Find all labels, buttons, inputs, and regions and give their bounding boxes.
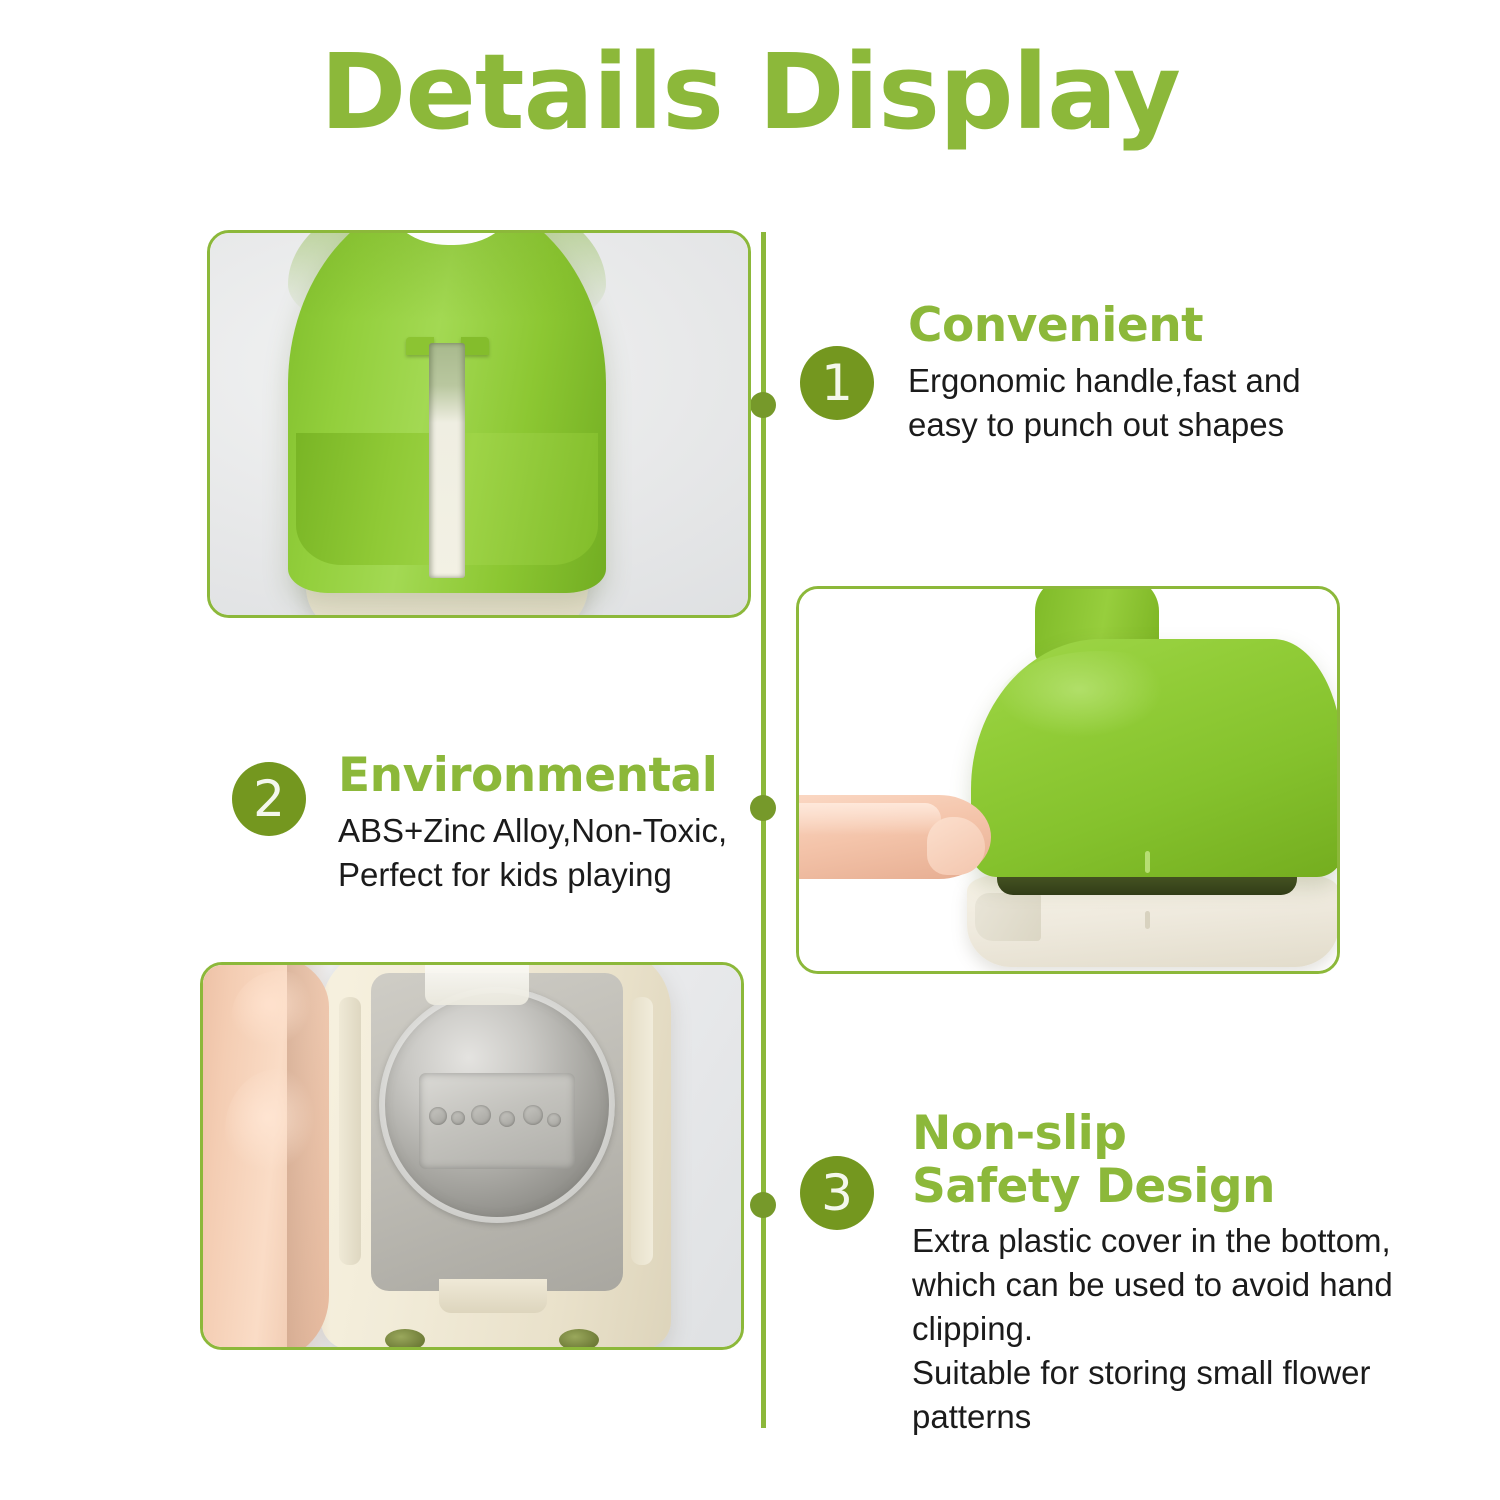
die-pattern-dot — [471, 1105, 491, 1125]
timeline-dot-2 — [750, 795, 776, 821]
feature-text-2: Environmental ABS+Zinc Alloy,Non-Toxic, … — [338, 750, 727, 896]
feature-body-3: Extra plastic cover in the bottom, which… — [912, 1219, 1393, 1438]
punch-foot-right — [559, 1329, 599, 1347]
die-pattern-dot — [451, 1111, 465, 1125]
timeline-dot-1 — [750, 392, 776, 418]
punch-base-alignment-tick — [1145, 911, 1150, 929]
die-pattern-dot — [499, 1111, 515, 1127]
hand-highlight-upper — [231, 971, 327, 1067]
feature-text-1: Convenient Ergonomic handle,fast and eas… — [908, 300, 1301, 446]
punch-dome-alignment-tick — [1145, 851, 1150, 873]
feature-heading-3: Non-slip Safety Design — [912, 1108, 1393, 1213]
punch-slot-lip-right — [461, 337, 489, 355]
punch-base-edge — [975, 893, 1041, 941]
feature-text-3: Non-slip Safety Design Extra plastic cov… — [912, 1108, 1393, 1439]
fingertip — [927, 817, 985, 875]
feature-body-1: Ergonomic handle,fast and easy to punch … — [908, 359, 1301, 447]
feature-number-badge-1: 1 — [800, 346, 874, 420]
feature-body-2: ABS+Zinc Alloy,Non-Toxic, Perfect for ki… — [338, 809, 727, 897]
feature-heading-2: Environmental — [338, 750, 727, 803]
photo-1-canvas — [210, 233, 748, 615]
photo-3-canvas — [203, 965, 741, 1347]
product-photo-3 — [200, 962, 744, 1350]
punch-top-shading — [288, 233, 606, 339]
punch-paper-slot — [429, 343, 465, 578]
product-photo-2 — [796, 586, 1340, 974]
punch-rib-right — [631, 997, 653, 1265]
hand-highlight-lower — [225, 1069, 331, 1191]
photo-2-canvas — [799, 589, 1337, 971]
plastic-cover-clip — [425, 965, 529, 1005]
finger-highlight — [799, 803, 941, 835]
page-title: Details Display — [0, 38, 1500, 147]
punch-dome-highlight — [995, 651, 1205, 761]
feature-heading-1: Convenient — [908, 300, 1301, 353]
die-pattern-dot — [523, 1105, 543, 1125]
punch-foot-left — [385, 1329, 425, 1347]
punch-rib-left — [339, 997, 361, 1265]
feature-number-badge-3: 3 — [800, 1156, 874, 1230]
product-photo-1 — [207, 230, 751, 618]
timeline-dot-3 — [750, 1192, 776, 1218]
die-pattern-dot — [429, 1107, 447, 1125]
punch-bottom-tab — [439, 1279, 547, 1313]
die-pattern-dot — [547, 1113, 561, 1127]
feature-number-badge-2: 2 — [232, 762, 306, 836]
